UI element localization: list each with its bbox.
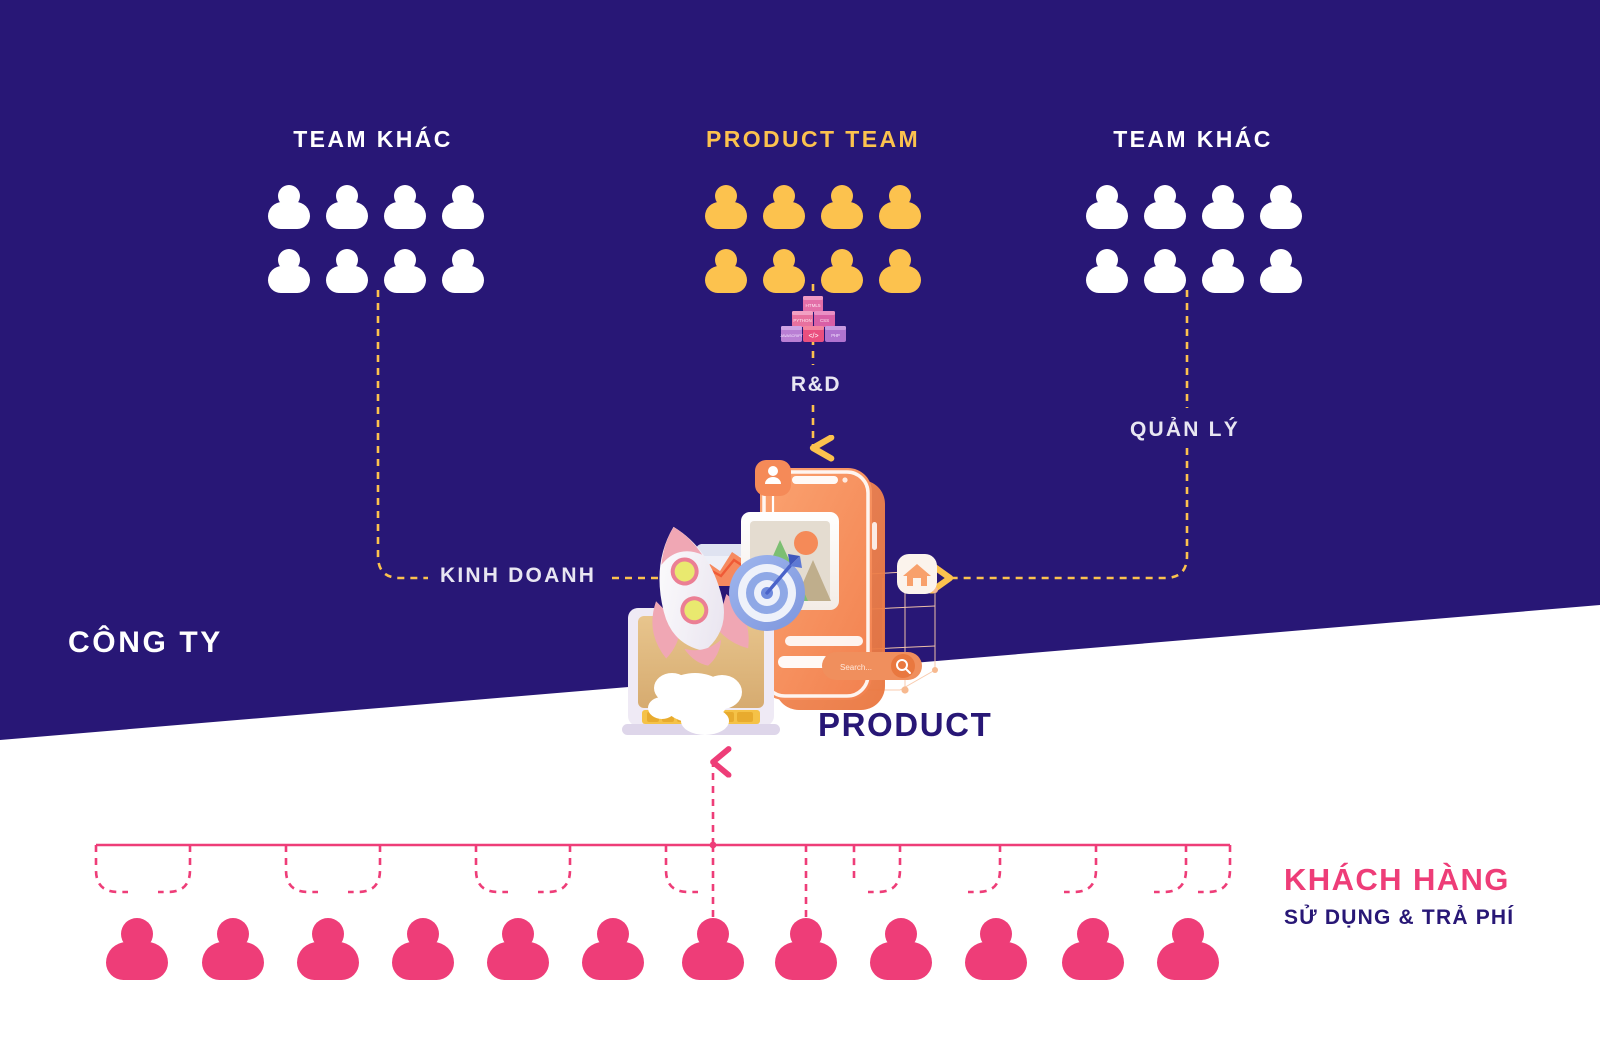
person-icon bbox=[879, 185, 921, 229]
person-icon bbox=[879, 249, 921, 293]
person-icon bbox=[326, 185, 368, 229]
svg-text:HTML5: HTML5 bbox=[805, 303, 821, 308]
svg-text:</>: </> bbox=[808, 333, 818, 340]
team-title-right: TEAM KHÁC bbox=[1058, 126, 1328, 153]
person-icon bbox=[268, 185, 310, 229]
person-icon bbox=[1260, 185, 1302, 229]
person-icon bbox=[442, 249, 484, 293]
search-placeholder-text: Search... bbox=[840, 663, 872, 672]
flow-label-rd: R&D bbox=[766, 373, 866, 397]
svg-text:CSS: CSS bbox=[820, 318, 829, 323]
customer-icon bbox=[682, 918, 744, 980]
person-icon bbox=[1144, 185, 1186, 229]
flow-label-quan-ly: QUẢN LÝ bbox=[1130, 418, 1240, 442]
person-icon bbox=[442, 185, 484, 229]
person-icon bbox=[763, 249, 805, 293]
team-members-center bbox=[705, 185, 937, 293]
person-icon bbox=[268, 249, 310, 293]
team-members-left bbox=[268, 185, 500, 293]
connector-customers bbox=[96, 762, 1230, 918]
svg-text:JAVASCRIPT: JAVASCRIPT bbox=[780, 334, 804, 338]
customer-icon bbox=[1062, 918, 1124, 980]
svg-text:PHP: PHP bbox=[831, 333, 840, 338]
page-title-company: CÔNG TY bbox=[68, 626, 223, 660]
person-icon bbox=[1144, 249, 1186, 293]
customer-icon bbox=[965, 918, 1027, 980]
customer-icon bbox=[775, 918, 837, 980]
customer-icon bbox=[582, 918, 644, 980]
person-icon bbox=[384, 185, 426, 229]
person-icon bbox=[1086, 185, 1128, 229]
person-icon bbox=[1202, 185, 1244, 229]
flow-label-kinh-doanh: KINH DOANH bbox=[440, 564, 596, 588]
person-icon bbox=[326, 249, 368, 293]
customers-subtitle: SỬ DỤNG & TRẢ PHÍ bbox=[1284, 906, 1514, 930]
team-title-left: TEAM KHÁC bbox=[238, 126, 508, 153]
customer-icon bbox=[870, 918, 932, 980]
diagram-canvas: TEAM KHÁC PRODUCT TEAM TEAM KHÁC bbox=[0, 0, 1600, 1058]
person-icon bbox=[1260, 249, 1302, 293]
person-icon bbox=[821, 249, 863, 293]
customers-title: KHÁCH HÀNG bbox=[1284, 862, 1510, 898]
customer-icon bbox=[392, 918, 454, 980]
customer-icon bbox=[487, 918, 549, 980]
person-icon bbox=[763, 185, 805, 229]
person-icon bbox=[705, 185, 747, 229]
home-icon bbox=[897, 554, 937, 594]
team-title-center: PRODUCT TEAM bbox=[678, 126, 948, 153]
search-icon: Search... bbox=[822, 652, 922, 680]
person-icon bbox=[384, 249, 426, 293]
person-icon bbox=[705, 249, 747, 293]
person-icon bbox=[1202, 249, 1244, 293]
code-blocks-icon: HTML5 PYTHON CSS JAVASCRIPT </> PHP bbox=[773, 296, 853, 344]
customer-icon bbox=[1157, 918, 1219, 980]
svg-text:PYTHON: PYTHON bbox=[793, 318, 811, 323]
page-title-product: PRODUCT bbox=[818, 706, 992, 744]
person-icon bbox=[1086, 249, 1128, 293]
customer-icon bbox=[297, 918, 359, 980]
person-icon bbox=[821, 185, 863, 229]
team-members-right bbox=[1086, 185, 1318, 293]
customer-icon bbox=[202, 918, 264, 980]
customer-icon bbox=[106, 918, 168, 980]
